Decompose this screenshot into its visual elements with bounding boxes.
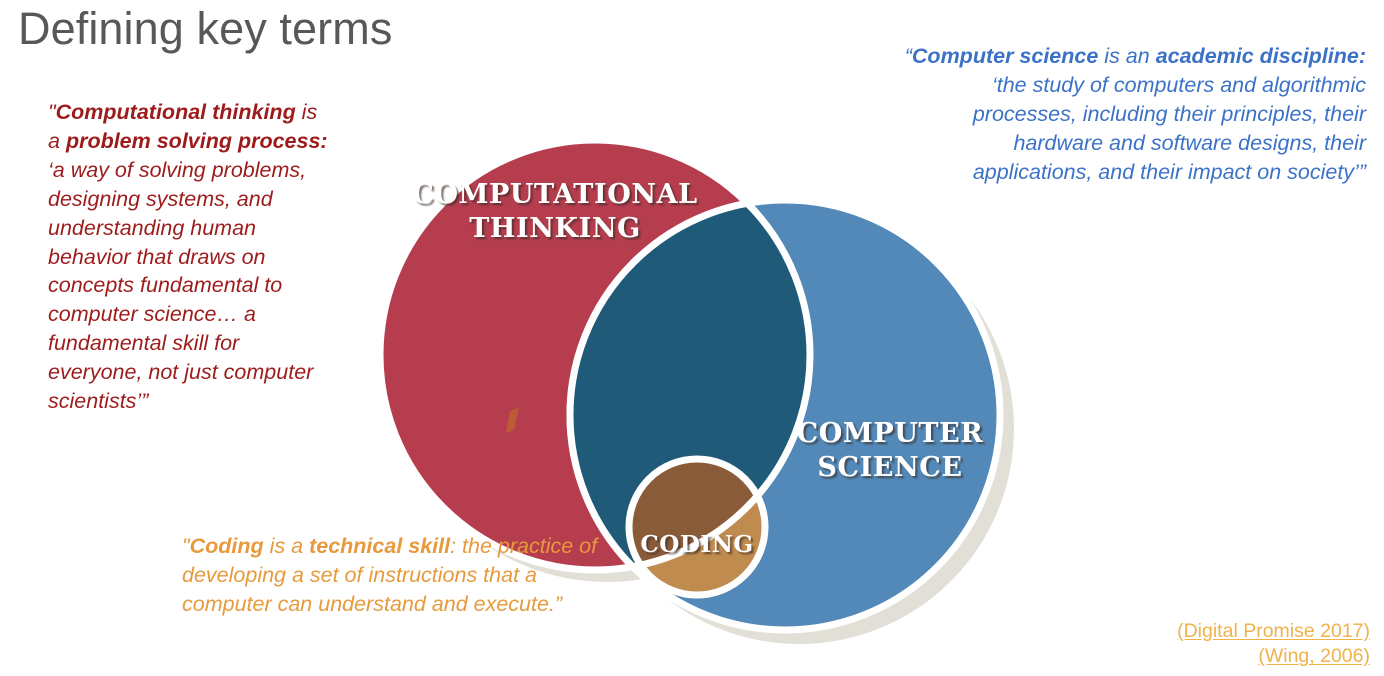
quote-computational-thinking: "Computational thinking is a problem sol…	[48, 98, 328, 416]
venn-label-computer-science-line1: COMPUTER	[797, 418, 984, 449]
quote-cs-body: ‘the study of computers and algorithmic …	[973, 73, 1366, 184]
quote-cs-bold-term: Computer science	[912, 44, 1098, 68]
quote-cs-open-quote: “	[905, 44, 912, 68]
quote-ct-open-quote: "	[48, 100, 56, 124]
venn-label-coding: CODING	[640, 531, 753, 558]
page-title: Defining key terms	[18, 2, 392, 55]
venn-label-computer-science-line2: SCIENCE	[817, 452, 962, 483]
quote-computer-science: “Computer science is an academic discipl…	[896, 42, 1366, 187]
quote-coding-open-quote: "	[182, 534, 190, 558]
quote-ct-bold-term: Computational thinking	[56, 100, 296, 124]
quote-ct-body: ‘a way of solving problems, designing sy…	[48, 158, 313, 413]
slide-canvas: Defining key terms	[0, 0, 1384, 676]
venn-label-computational-thinking-line2: THINKING	[469, 213, 641, 244]
citations: (Digital Promise 2017) (Wing, 2006)	[1177, 619, 1370, 670]
citation-link-digital-promise[interactable]: (Digital Promise 2017)	[1177, 619, 1370, 645]
quote-ct-bold-definition: problem solving process:	[66, 129, 328, 153]
quote-coding-bold-term: Coding	[190, 534, 264, 558]
quote-coding: "Coding is a technical skill: the practi…	[182, 532, 602, 619]
quote-cs-bold-definition: academic discipline:	[1156, 44, 1366, 68]
venn-label-computational-thinking-line1: COMPUTATIONAL	[412, 179, 698, 210]
quote-coding-bold-definition: technical skill	[309, 534, 450, 558]
quote-coding-connector: is a	[264, 534, 309, 558]
quote-cs-connector: is an	[1098, 44, 1155, 68]
citation-link-wing[interactable]: (Wing, 2006)	[1177, 644, 1370, 670]
